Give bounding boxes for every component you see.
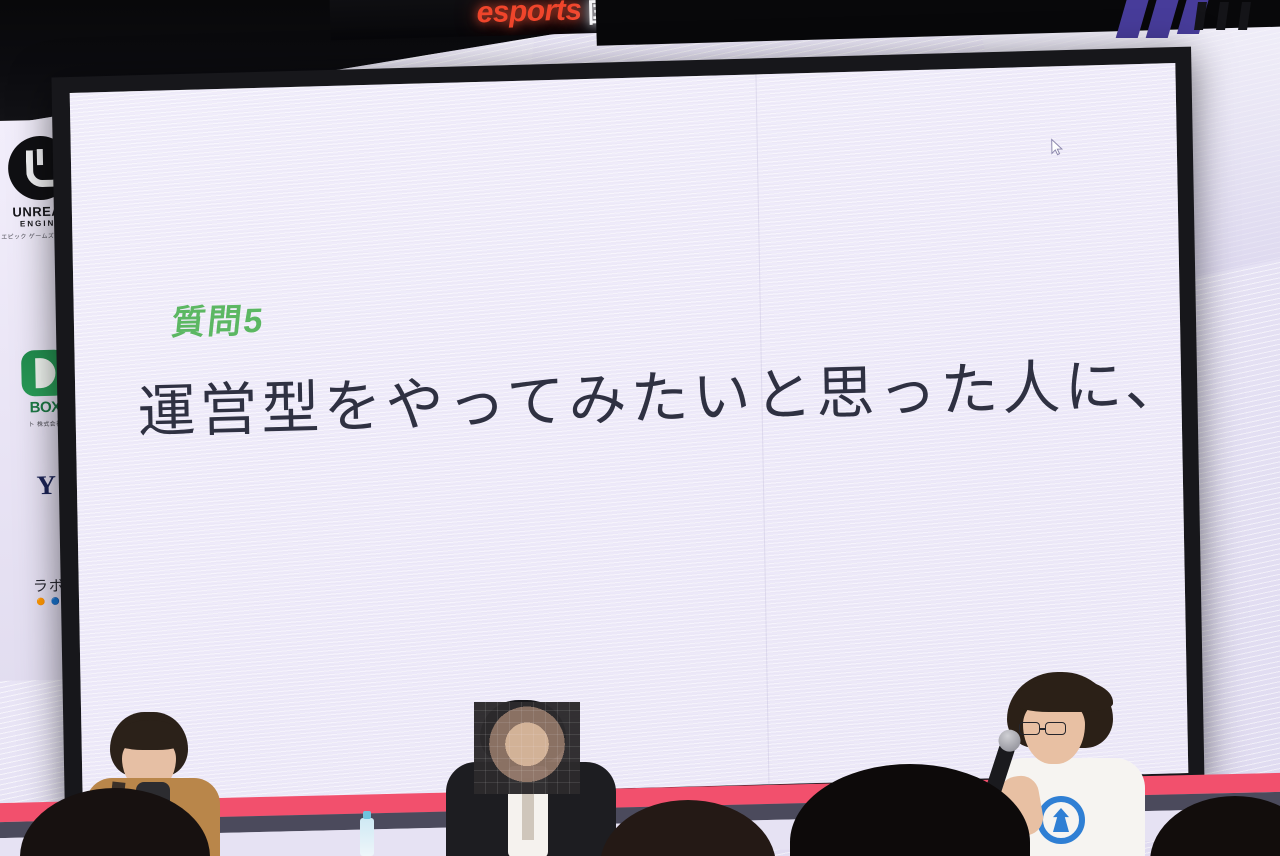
eyeglasses-icon <box>1019 722 1071 735</box>
venue-banner-latin: esports <box>476 0 582 30</box>
glasses-lens-left <box>1019 722 1040 735</box>
panelist-center <box>452 700 600 856</box>
mouse-pointer-icon <box>1051 138 1063 156</box>
water-bottle <box>360 818 374 856</box>
stage-photo: esports 国際 UNREAL ENGINE エピック ゲームズ ジャパン … <box>0 0 1280 856</box>
panelist-center-pixelated-face <box>474 702 580 794</box>
angled-bars-logo <box>1118 0 1228 42</box>
logo-bar-2 <box>1146 0 1181 38</box>
glasses-lens-right <box>1045 722 1066 735</box>
question-number-label: 質問5 <box>169 293 267 345</box>
tshirt-blue-circular-logo-icon <box>1037 796 1085 844</box>
slide-headline: 運営型をやってみたいと思った人に、一言 <box>137 350 1158 450</box>
logo-bar-1 <box>1116 0 1151 38</box>
